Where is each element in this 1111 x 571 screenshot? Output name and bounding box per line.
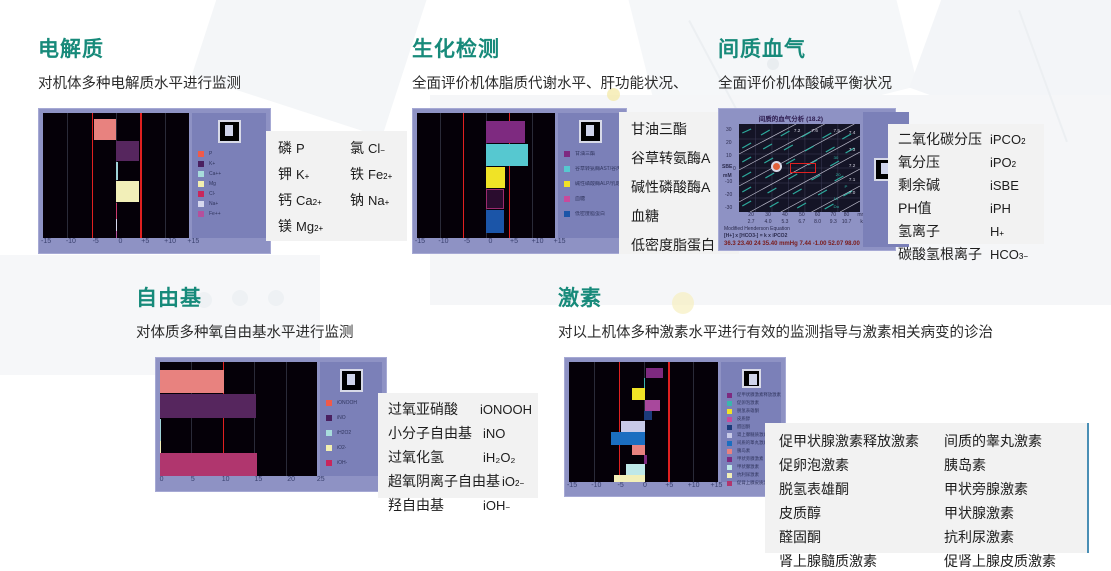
report-icon[interactable] <box>218 120 241 143</box>
label-en: iNO <box>483 426 505 441</box>
legend-item[interactable]: 碱性磷酸酶ALP/乳酸脱氢酶LDT <box>564 181 622 187</box>
label-cn: 低密度脂蛋白 <box>631 235 715 254</box>
label-en: Mg <box>296 219 314 234</box>
bar-glucose <box>486 189 504 209</box>
label-en: HCO <box>990 247 1019 262</box>
legend-swatch <box>326 445 332 451</box>
x-tick: 15 <box>254 476 262 483</box>
y-tick: -20 <box>725 192 732 198</box>
x-tick: 10 <box>222 476 230 483</box>
bar-aldosterone <box>644 411 651 420</box>
x-tick-kpa: 6.7 <box>798 219 805 225</box>
legend-item[interactable]: 谷草转氨酶AST/谷丙转氨酶ALT <box>564 166 622 172</box>
value-hco3: 23.40 <box>737 241 752 247</box>
legend-label: 肾上腺髓质激素 <box>737 432 768 438</box>
bar-Ca <box>116 162 118 180</box>
legend-swatch <box>326 460 332 466</box>
bar-iONOOH <box>160 370 224 393</box>
nomogram-title-value: (18.2) <box>806 116 823 123</box>
legend-swatch <box>727 465 732 470</box>
x-tick: -15 <box>41 238 51 245</box>
legend-item[interactable]: Ca++ <box>198 171 266 177</box>
x-tick: 20 <box>287 476 295 483</box>
label-row: 碱性磷酸酶A <box>631 177 729 197</box>
label-column: 甘油三酯 谷草转氨酶A 碱性磷酸酶A 血糖 低密度脂蛋白 <box>631 119 729 254</box>
svg-text:7.4: 7.4 <box>849 130 856 135</box>
value-h: 36.3 <box>724 241 736 247</box>
label-cn: 磷 <box>278 138 292 158</box>
legend-swatch <box>727 449 732 454</box>
y-tick: 30 <box>726 127 732 133</box>
x-axis: 0 5 10 15 20 25 <box>160 476 324 487</box>
bar-testosterone <box>611 432 645 445</box>
label-cn: 碱性磷酸酶A <box>631 177 710 197</box>
label-cn: 羟自由基 <box>388 495 483 515</box>
bar-Mg <box>116 181 139 202</box>
label-row: 谷草转氨酶A <box>631 148 729 168</box>
bar-adh <box>614 475 645 482</box>
bar-Cl <box>116 203 117 219</box>
legend-label: Cl- <box>209 191 215 197</box>
label-sup: 2− <box>515 479 524 488</box>
x-tick: -10 <box>66 238 76 245</box>
legend-label: 胰岛素 <box>737 448 750 454</box>
legend-item[interactable]: 甘油三酯 <box>564 151 622 157</box>
label-en: H <box>990 224 999 239</box>
legend-swatch <box>564 151 570 157</box>
label-row: 血糖 <box>631 206 729 226</box>
label-cn: 氯 <box>350 138 364 158</box>
value-sbe: -1.00 <box>813 241 827 247</box>
x-axis: -15 -10 -5 0 +5 +10 +15 <box>569 482 721 492</box>
bar-iOH <box>160 453 257 476</box>
label-en: iSBE <box>990 178 1019 193</box>
x-tick: +10 <box>532 238 544 245</box>
gridline <box>440 113 441 238</box>
label-row: 促肾上腺皮质激素 <box>944 551 1056 571</box>
reference-line-low <box>463 113 465 238</box>
bg-diagonal-line-2 <box>1018 10 1068 142</box>
x-tick-kpa: 10.7 <box>842 219 852 225</box>
plot-area[interactable] <box>43 113 189 238</box>
x-tick: +10 <box>164 238 176 245</box>
x-tick: 30 <box>765 212 771 218</box>
value-ph: 7.44 <box>799 241 811 247</box>
label-en: iONOOH <box>480 402 532 417</box>
bar-iNO <box>160 394 256 418</box>
bar-iO2 <box>160 441 161 453</box>
label-row: 醛固酮 <box>779 527 944 547</box>
svg-text:7.2: 7.2 <box>849 163 856 168</box>
bar-pth <box>644 455 647 464</box>
report-icon[interactable] <box>579 120 602 143</box>
legend-swatch <box>727 417 732 422</box>
y-axis-label: SBE <box>722 164 732 170</box>
label-row: 间质的睾丸激素 <box>944 431 1056 451</box>
bar-Fe <box>116 231 117 238</box>
svg-text:30: 30 <box>833 155 839 160</box>
patient-range-box <box>790 163 816 173</box>
x-tick: 20 <box>748 212 754 218</box>
x-tick-kpa: 2.7 <box>748 219 755 225</box>
label-cn: 钠 <box>350 190 364 210</box>
x-tick: +5 <box>665 482 673 489</box>
label-en: K <box>296 167 305 182</box>
svg-text:7.3: 7.3 <box>849 147 856 152</box>
x-tick: -10 <box>438 238 448 245</box>
legend-item[interactable]: 低密度脂蛋白 <box>564 211 622 217</box>
value-k: 24 <box>754 241 761 247</box>
legend-label: 低密度脂蛋白 <box>575 211 605 217</box>
plot-area[interactable] <box>569 362 718 482</box>
label-cn: 镁 <box>278 216 292 236</box>
label-sub: 2 <box>1021 137 1025 146</box>
x-tick: 25 <box>317 476 325 483</box>
legend-swatch <box>727 473 732 478</box>
legend-label: 甘油三酯 <box>575 151 595 157</box>
label-sup: − <box>505 503 510 512</box>
legend-label: 谷草转氨酶AST/谷丙转氨酶ALT <box>575 166 622 172</box>
label-sup: 2+ <box>313 198 322 207</box>
label-column: 二氧化碳分压 iPCO 2 氧分压 iPO 2 剩余碱 iSBE PH值 iPH… <box>898 129 1038 264</box>
gridline <box>532 113 533 238</box>
hormones-labels: 促甲状腺激素释放激素 促卵泡激素 脱氢表雄酮 皮质醇 醛固酮 肾上腺髓质激素 间… <box>765 423 1089 553</box>
label-cn: 促肾上腺皮质激素 <box>944 551 1056 571</box>
legend-item[interactable]: 皮质醇 <box>727 416 781 422</box>
chart-legend: iONOOH iNO iH2O2 iO2- iOH- <box>320 362 382 476</box>
x-tick: +15 <box>187 238 199 245</box>
panel-subtitle: 对以上机体多种激素水平进行有效的监测指导与激素相关病变的诊治 <box>558 324 993 342</box>
legend-item[interactable]: P <box>198 151 266 157</box>
free-radicals-labels: 过氧亚硝酸 iONOOH 小分子自由基 iNO 过氧化氢 iH₂O₂ 超氧阴离子… <box>378 393 538 498</box>
y-tick: 10 <box>726 153 732 159</box>
bar-P <box>94 119 116 140</box>
svg-text:P: P <box>844 184 847 189</box>
label-row: 钾 K + <box>278 164 350 184</box>
label-row: 超氧阴离子自由基 iO 2− <box>388 471 532 491</box>
panel-electrolytes: 电解质 对机体多种电解质水平进行监测 <box>38 38 241 102</box>
label-row: 抗利尿激素 <box>944 527 1056 547</box>
x-tick-kpa: 5.3 <box>781 219 788 225</box>
legend-swatch <box>727 393 732 398</box>
bar-K <box>116 141 139 161</box>
label-cn: 钙 <box>278 190 292 210</box>
x-tick: 5 <box>191 476 195 483</box>
label-row: 脱氢表雄酮 <box>779 479 944 499</box>
nomogram-title-text: 间质的血气分析 <box>759 116 805 123</box>
legend-label: 促卵泡激素 <box>737 400 759 406</box>
legend-swatch <box>564 166 570 172</box>
legend-label: 醛固酮 <box>737 424 750 430</box>
label-sup: 2+ <box>383 172 392 181</box>
equation: [H+] x [HCO3-] = k x iPCO2 <box>724 233 860 240</box>
value-po2: 52.07 <box>828 241 843 247</box>
legend-swatch <box>564 181 570 187</box>
label-en: Cl <box>368 141 380 156</box>
label-en: iPH <box>990 201 1011 216</box>
x-tick: 0 <box>489 238 493 245</box>
label-cn: 肾上腺髓质激素 <box>779 551 877 571</box>
label-column-right: 氯 Cl − 铁 Fe 2+ 钠 Na + <box>350 138 392 236</box>
value-pco2: 35.40 mmHg <box>762 241 797 247</box>
x-tick: +5 <box>510 238 518 245</box>
svg-text:7.5: 7.5 <box>833 128 840 133</box>
legend-swatch <box>727 425 732 430</box>
svg-text:7.2: 7.2 <box>794 128 801 133</box>
label-column-left: 促甲状腺激素释放激素 促卵泡激素 脱氢表雄酮 皮质醇 醛固酮 肾上腺髓质激素 <box>779 431 944 571</box>
label-cn: 氢离子 <box>898 221 990 241</box>
legend-label: iH2O2 <box>337 430 351 436</box>
label-row: 甘油三酯 <box>631 119 729 139</box>
electrolytes-chart[interactable]: P K+ Ca++ Mg Cl- Na+ <box>38 108 271 254</box>
blood-gas-labels: 二氧化碳分压 iPCO 2 氧分压 iPO 2 剩余碱 iSBE PH值 iPH… <box>888 124 1044 244</box>
label-cn: 胰岛素 <box>944 455 986 475</box>
bar-fsh <box>644 378 645 388</box>
svg-text:20: 20 <box>836 172 842 177</box>
x-tick: -5 <box>618 482 624 489</box>
label-en: Fe <box>368 167 383 182</box>
label-sup: − <box>1023 252 1028 261</box>
legend-swatch <box>564 211 570 217</box>
reference-line-low <box>619 362 621 482</box>
label-cn: 促卵泡激素 <box>779 455 849 475</box>
label-row: PH值 iPH <box>898 198 1038 218</box>
label-column: 过氧亚硝酸 iONOOH 小分子自由基 iNO 过氧化氢 iH₂O₂ 超氧阴离子… <box>388 399 532 515</box>
label-cn: 甘油三酯 <box>631 119 687 139</box>
label-cn: 脱氢表雄酮 <box>779 479 849 499</box>
legend-swatch <box>727 409 732 414</box>
label-row: 胰岛素 <box>944 455 1056 475</box>
y-tick: 0 <box>733 166 736 172</box>
legend-label: iO2- <box>337 445 346 451</box>
free-radicals-chart[interactable]: iONOOH iNO iH2O2 iO2- iOH- <box>155 357 387 492</box>
legend-label: Mg <box>209 181 216 187</box>
panel-subtitle: 对机体多种电解质水平进行监测 <box>38 75 241 93</box>
legend-item[interactable]: Cl- <box>198 191 266 197</box>
bar-iH2O2 <box>160 419 161 441</box>
x-tick-kpa: 9.3 <box>830 219 837 225</box>
label-row: 镁 Mg 2+ <box>278 216 350 236</box>
legend-swatch <box>727 433 732 438</box>
value-so2: 98.00 <box>845 241 860 247</box>
hormones-chart[interactable]: 促甲状腺激素释放激素 促卵泡激素 脱氢表雄酮 皮质醇 醛固酮 <box>564 357 786 497</box>
svg-text:7.6: 7.6 <box>812 128 819 133</box>
bar-triglyceride <box>486 121 525 143</box>
legend-item[interactable]: 促卵泡激素 <box>727 400 781 406</box>
x-tick: 0 <box>119 238 123 245</box>
gridline <box>67 113 68 238</box>
label-cn: 小分子自由基 <box>388 423 483 443</box>
label-sup: 2+ <box>314 224 323 233</box>
legend-item[interactable]: iOH- <box>326 460 382 466</box>
legend-swatch <box>198 161 204 167</box>
label-cn: 促甲状腺激素释放激素 <box>779 431 919 451</box>
page-title: 激素 <box>558 287 993 311</box>
label-cn: 过氧亚硝酸 <box>388 399 480 419</box>
legend-label: 皮质醇 <box>737 416 750 422</box>
label-row: 铁 Fe 2+ <box>350 164 392 184</box>
label-row: 甲状腺激素 <box>944 503 1056 523</box>
label-row: 低密度脂蛋白 <box>631 235 729 254</box>
label-cn: PH值 <box>898 198 990 218</box>
x-tick: 50 <box>799 212 805 218</box>
bar-insulin <box>632 445 645 455</box>
label-cn: 碳酸氢根离子 <box>898 244 990 264</box>
legend-swatch <box>326 430 332 436</box>
legend-swatch <box>727 401 732 406</box>
label-row: 促卵泡激素 <box>779 455 944 475</box>
patient-point <box>773 163 780 170</box>
label-cn: 甲状腺激素 <box>944 503 1014 523</box>
label-column-left: 磷 P 钾 K + 钙 Ca 2+ 镁 Mg 2+ <box>278 138 350 236</box>
label-row: 氧分压 iPO 2 <box>898 152 1038 172</box>
equation-title: Modified Henderson Equation <box>724 226 860 233</box>
x-tick: +5 <box>141 238 149 245</box>
x-axis: -15 -10 -5 0 +5 +10 +15 <box>43 238 198 249</box>
label-column-right: 间质的睾丸激素 胰岛素 甲状旁腺激素 甲状腺激素 抗利尿激素 促肾上腺皮质激素 <box>944 431 1056 571</box>
legend-swatch <box>727 441 732 446</box>
nomogram-title: 间质的血气分析 (18.2) <box>722 112 860 124</box>
x-tick: -15 <box>415 238 425 245</box>
legend-item[interactable]: 脱氢表雄酮 <box>727 408 781 414</box>
legend-swatch <box>198 191 204 197</box>
legend-item[interactable]: iO2- <box>326 445 382 451</box>
gridline <box>165 113 166 238</box>
bar-ldl <box>486 210 504 233</box>
svg-text:Do: Do <box>833 204 839 209</box>
x-tick: 60 <box>815 212 821 218</box>
chart-legend: P K+ Ca++ Mg Cl- Na+ <box>192 113 266 238</box>
x-axis-primary: 20 30 40 50 60 70 80 mmHg <box>739 212 860 219</box>
label-row: 羟自由基 iOH − <box>388 495 532 515</box>
label-row: 氢离子 H + <box>898 221 1038 241</box>
label-cn: 血糖 <box>631 206 659 226</box>
label-cn: 剩余碱 <box>898 175 990 195</box>
y-tick: -10 <box>725 179 732 185</box>
label-sup: + <box>385 198 390 207</box>
label-sup: − <box>380 146 385 155</box>
legend-item[interactable]: Na+ <box>198 201 266 207</box>
legend-item[interactable]: 血糖 <box>564 196 622 202</box>
bar-cortisol <box>645 400 660 411</box>
legend-swatch <box>198 171 204 177</box>
label-cn: 钾 <box>278 164 292 184</box>
label-en: P <box>296 141 305 156</box>
legend-item[interactable]: iNO <box>326 415 382 421</box>
nomogram-plot[interactable]: 7.27.6 7.57.4 7.37.2 7.17.0 3020 P10 Do <box>739 124 860 212</box>
legend-swatch <box>326 400 332 406</box>
chart-legend: 甘油三酯 谷草转氨酶AST/谷丙转氨酶ALT 碱性磷酸酶ALP/乳酸脱氢酶LDT… <box>558 113 622 238</box>
legend-label: iONOOH <box>337 400 357 406</box>
legend-label: 甲状旁腺激素 <box>737 456 763 462</box>
label-row: 钠 Na + <box>350 190 392 210</box>
label-cn: 间质的睾丸激素 <box>944 431 1042 451</box>
label-row: 碳酸氢根离子 HCO 3 − <box>898 244 1038 264</box>
bar-thyroid <box>626 464 645 475</box>
legend-item[interactable]: iONOOH <box>326 400 382 406</box>
x-tick: -5 <box>464 238 470 245</box>
x-tick: +15 <box>711 482 723 489</box>
blood-gas-nomogram[interactable]: 间质的血气分析 (18.2) 30 20 10 SBE 0 mM -10 -20… <box>718 108 896 251</box>
label-row: 皮质醇 <box>779 503 944 523</box>
legend-label: 脱氢表雄酮 <box>737 408 759 414</box>
label-cn: 氧分压 <box>898 152 990 172</box>
legend-swatch <box>198 201 204 207</box>
label-row: 小分子自由基 iNO <box>388 423 532 443</box>
legend-swatch <box>564 196 570 202</box>
bar-trh <box>646 368 662 378</box>
label-cn: 抗利尿激素 <box>944 527 1014 547</box>
label-en: iO <box>502 474 515 489</box>
legend-label: 间质的睾丸激素 <box>737 440 768 446</box>
legend-label: P <box>209 151 212 157</box>
panel-free-radicals: 自由基 对体质多种氧自由基水平进行监测 <box>136 287 354 351</box>
report-icon[interactable] <box>742 369 761 388</box>
legend-label: Na+ <box>209 201 218 207</box>
reference-line-high <box>668 362 670 482</box>
gridline <box>286 362 287 476</box>
label-columns: 促甲状腺激素释放激素 促卵泡激素 脱氢表雄酮 皮质醇 醛固酮 肾上腺髓质激素 间… <box>779 431 1077 571</box>
label-en: Na <box>368 193 385 208</box>
nomogram-main: 间质的血气分析 (18.2) 30 20 10 SBE 0 mM -10 -20… <box>722 112 860 247</box>
legend-label: 碱性磷酸酶ALP/乳酸脱氢酶LDT <box>575 181 622 187</box>
reference-line-high <box>140 113 142 238</box>
label-row: 钙 Ca 2+ <box>278 190 350 210</box>
x-tick: 0 <box>160 476 164 483</box>
x-tick: 70 <box>830 212 836 218</box>
legend-label: Ca++ <box>209 171 221 177</box>
legend-item[interactable]: K+ <box>198 161 266 167</box>
svg-text:10: 10 <box>833 196 839 201</box>
label-cn: 过氧化氢 <box>388 447 483 467</box>
x-tick-kpa: 4.0 <box>765 219 772 225</box>
legend-item[interactable]: Fe++ <box>198 211 266 217</box>
x-tick: -15 <box>567 482 577 489</box>
label-sup: + <box>999 229 1004 238</box>
label-en: Ca <box>296 193 313 208</box>
label-en: iPO <box>990 155 1012 170</box>
legend-swatch <box>326 415 332 421</box>
legend-item[interactable]: Mg <box>198 181 266 187</box>
plot-area[interactable] <box>417 113 555 238</box>
report-icon[interactable] <box>340 369 363 392</box>
legend-item[interactable]: iH2O2 <box>326 430 382 436</box>
panel-subtitle: 全面评价机体酸碱平衡状况 <box>718 75 896 93</box>
biochemistry-chart[interactable]: 甘油三酯 谷草转氨酶AST/谷丙转氨酶ALT 碱性磷酸酶ALP/乳酸脱氢酶LDT… <box>412 108 627 254</box>
label-row: 氯 Cl − <box>350 138 392 158</box>
x-tick: +10 <box>688 482 700 489</box>
x-tick: +15 <box>554 238 566 245</box>
page-title: 电解质 <box>38 38 241 62</box>
legend-swatch <box>198 151 204 157</box>
panel-subtitle: 全面评价机体脂质代谢水平、肝功能状况、 <box>412 75 688 93</box>
legend-swatch <box>727 457 732 462</box>
bar-Na <box>116 219 117 231</box>
label-row: 二氧化碳分压 iPCO 2 <box>898 129 1038 149</box>
plot-area[interactable] <box>160 362 317 476</box>
label-row: 过氧化氢 iH₂O₂ <box>388 447 532 467</box>
label-columns: 磷 P 钾 K + 钙 Ca 2+ 镁 Mg 2+ <box>278 138 397 236</box>
legend-label: 血糖 <box>575 196 585 202</box>
label-cn: 甲状旁腺激素 <box>944 479 1028 499</box>
label-cn: 超氧阴离子自由基 <box>388 471 500 491</box>
legend-label: iOH- <box>337 460 347 466</box>
legend-item[interactable]: 促甲状腺激素释放激素 <box>727 392 781 398</box>
x-tick: -5 <box>93 238 99 245</box>
panel-biochemistry: 生化检测 全面评价机体脂质代谢水平、肝功能状况、 <box>412 38 688 102</box>
gridline <box>594 362 595 482</box>
legend-label: 甲状腺激素 <box>737 464 759 470</box>
